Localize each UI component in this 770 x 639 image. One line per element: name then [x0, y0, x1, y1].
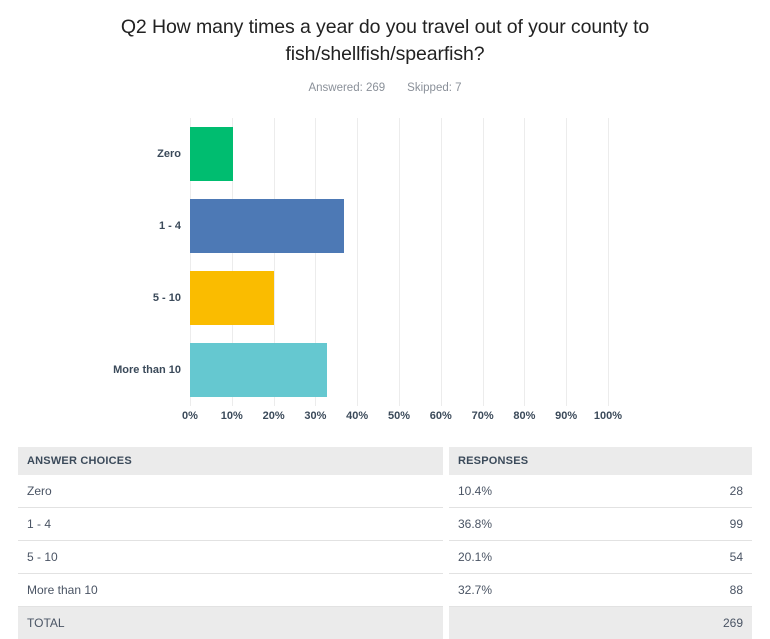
table-row: More than 1032.7%88 — [18, 574, 752, 607]
plot-area: Zero1 - 45 - 10More than 10 — [190, 118, 608, 406]
cell-count: 28 — [609, 475, 752, 508]
bar-row: Zero — [190, 118, 608, 190]
cell-answer-choice: Zero — [18, 475, 443, 508]
cell-percent: 36.8% — [449, 508, 609, 541]
x-tick-label: 10% — [221, 410, 243, 422]
bar-zero[interactable] — [190, 127, 233, 181]
cell-percent: 32.7% — [449, 574, 609, 607]
cell-total-label: TOTAL — [18, 607, 443, 639]
x-axis-ticks: 0%10%20%30%40%50%60%70%80%90%100% — [190, 410, 608, 430]
x-tick-label: 0% — [182, 410, 198, 422]
header-responses: RESPONSES — [449, 447, 752, 475]
table-row: Zero10.4%28 — [18, 475, 752, 508]
gridline — [608, 118, 609, 406]
x-tick-label: 90% — [555, 410, 577, 422]
header-answer-choices: ANSWER CHOICES — [18, 447, 443, 475]
cell-count: 54 — [609, 541, 752, 574]
table-total-row: TOTAL269 — [18, 607, 752, 639]
cell-total-percent — [449, 607, 609, 639]
bar-more-than-10[interactable] — [190, 343, 327, 397]
category-label: Zero — [157, 148, 181, 160]
cell-answer-choice: 1 - 4 — [18, 508, 443, 541]
cell-percent: 10.4% — [449, 475, 609, 508]
bar-row: 1 - 4 — [190, 190, 608, 262]
cell-count: 88 — [609, 574, 752, 607]
x-tick-label: 30% — [304, 410, 326, 422]
table-row: 5 - 1020.1%54 — [18, 541, 752, 574]
cell-count: 99 — [609, 508, 752, 541]
answered-count: Answered: 269 — [308, 82, 385, 94]
x-tick-label: 40% — [346, 410, 368, 422]
cell-percent: 20.1% — [449, 541, 609, 574]
cell-answer-choice: 5 - 10 — [18, 541, 443, 574]
table-body: Zero10.4%281 - 436.8%995 - 1020.1%54More… — [18, 475, 752, 639]
cell-answer-choice: More than 10 — [18, 574, 443, 607]
category-label: 1 - 4 — [159, 220, 181, 232]
table-row: 1 - 436.8%99 — [18, 508, 752, 541]
category-label: More than 10 — [113, 364, 181, 376]
results-table: ANSWER CHOICES RESPONSES Zero10.4%281 - … — [18, 447, 752, 639]
x-tick-label: 60% — [430, 410, 452, 422]
x-tick-label: 70% — [472, 410, 494, 422]
category-label: 5 - 10 — [153, 292, 181, 304]
x-tick-label: 100% — [594, 410, 622, 422]
response-summary: Answered: 269Skipped: 7 — [0, 82, 770, 94]
page-title: Q2 How many times a year do you travel o… — [0, 0, 770, 68]
bar-series: Zero1 - 45 - 10More than 10 — [190, 118, 608, 406]
x-tick-label: 20% — [263, 410, 285, 422]
table-header-row: ANSWER CHOICES RESPONSES — [18, 447, 752, 475]
skipped-count: Skipped: 7 — [407, 82, 461, 94]
bar-row: More than 10 — [190, 334, 608, 406]
survey-question-panel: Q2 How many times a year do you travel o… — [0, 0, 770, 430]
bar-row: 5 - 10 — [190, 262, 608, 334]
bar-5---10[interactable] — [190, 271, 274, 325]
x-tick-label: 80% — [513, 410, 535, 422]
bar-1---4[interactable] — [190, 199, 344, 253]
cell-total-count: 269 — [609, 607, 752, 639]
bar-chart: Zero1 - 45 - 10More than 10 0%10%20%30%4… — [0, 110, 770, 430]
x-tick-label: 50% — [388, 410, 410, 422]
